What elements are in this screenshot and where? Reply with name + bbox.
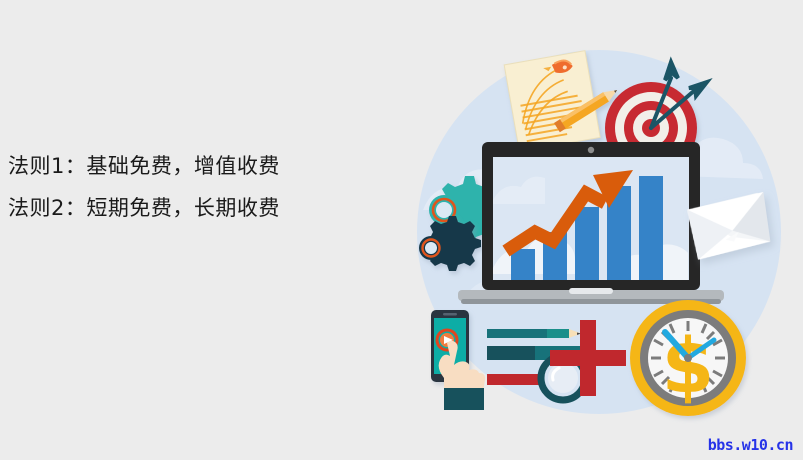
business-growth-illustration: $ <box>403 0 803 460</box>
bar-1 <box>511 249 535 280</box>
list-bar-4 <box>487 374 543 385</box>
slide-canvas: 法则1：基础免费，增值收费 法则2：短期免费，长期收费 <box>0 0 803 460</box>
laptop-camera <box>588 147 594 153</box>
rule-line-2: 法则2：短期免费，长期收费 <box>8 187 368 229</box>
laptop-with-bar-chart <box>458 142 724 304</box>
list-bar-2 <box>487 346 535 360</box>
bar-3 <box>575 207 599 280</box>
rule-line-1: 法则1：基础免费，增值收费 <box>8 145 368 187</box>
rules-text-block: 法则1：基础免费，增值收费 法则2：短期免费，长期收费 <box>8 145 368 229</box>
bar-5 <box>639 176 663 280</box>
list-bar-1 <box>487 329 553 338</box>
clock-with-dollar-icon: $ <box>630 300 746 416</box>
watermark-text: bbs.w10.cn <box>708 436 793 454</box>
laptop-trackpad-notch <box>569 288 613 294</box>
